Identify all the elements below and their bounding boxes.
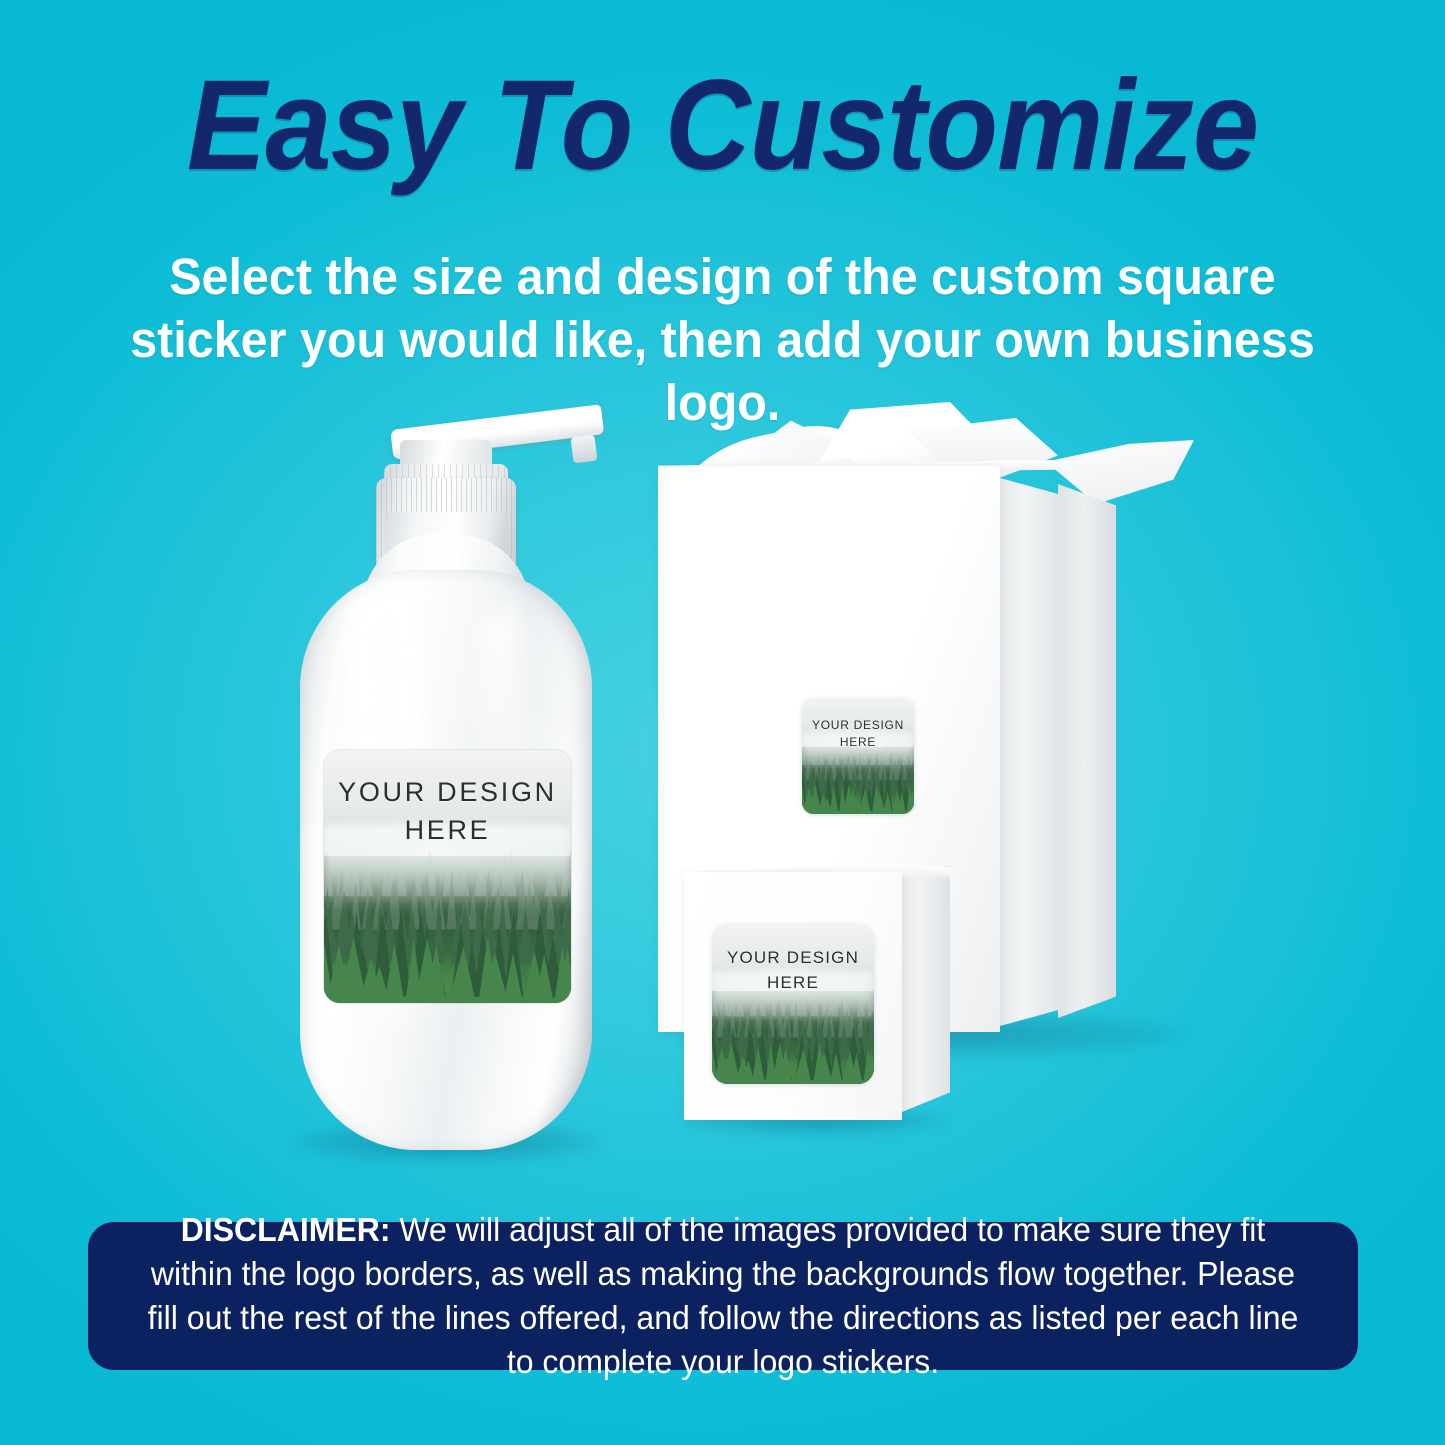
pump-nozzle-tip bbox=[571, 435, 598, 464]
cube-box-mockup: YOUR DESIGN HERE bbox=[676, 860, 956, 1140]
forest-artwork bbox=[802, 698, 914, 814]
cube-box-side-panel bbox=[902, 866, 950, 1112]
gift-box-back-panel bbox=[1058, 484, 1116, 1018]
page-title: Easy To Customize bbox=[51, 62, 1395, 190]
gift-box-sticker[interactable]: YOUR DESIGN HERE bbox=[802, 698, 914, 814]
forest-tree-layer bbox=[802, 698, 914, 814]
gift-sticker-design-text: YOUR DESIGN HERE bbox=[802, 717, 914, 751]
disclaimer-text: DISCLAIMER: We will adjust all of the im… bbox=[107, 1208, 1339, 1384]
cube-box-sticker[interactable]: YOUR DESIGN HERE bbox=[712, 924, 874, 1084]
poster-canvas: Easy To Customize Select the size and de… bbox=[0, 0, 1445, 1445]
bottle-design-text: YOUR DESIGN HERE bbox=[324, 773, 571, 850]
cube-sticker-design-text: YOUR DESIGN HERE bbox=[712, 946, 874, 994]
disclaimer-banner: DISCLAIMER: We will adjust all of the im… bbox=[88, 1222, 1358, 1370]
disclaimer-label: DISCLAIMER: bbox=[181, 1211, 391, 1248]
bottle-sticker-label[interactable]: YOUR DESIGN HERE bbox=[324, 750, 571, 1003]
gift-box-side-panel bbox=[1000, 478, 1060, 1026]
pump-bottle-mockup: YOUR DESIGN HERE bbox=[272, 430, 622, 1190]
